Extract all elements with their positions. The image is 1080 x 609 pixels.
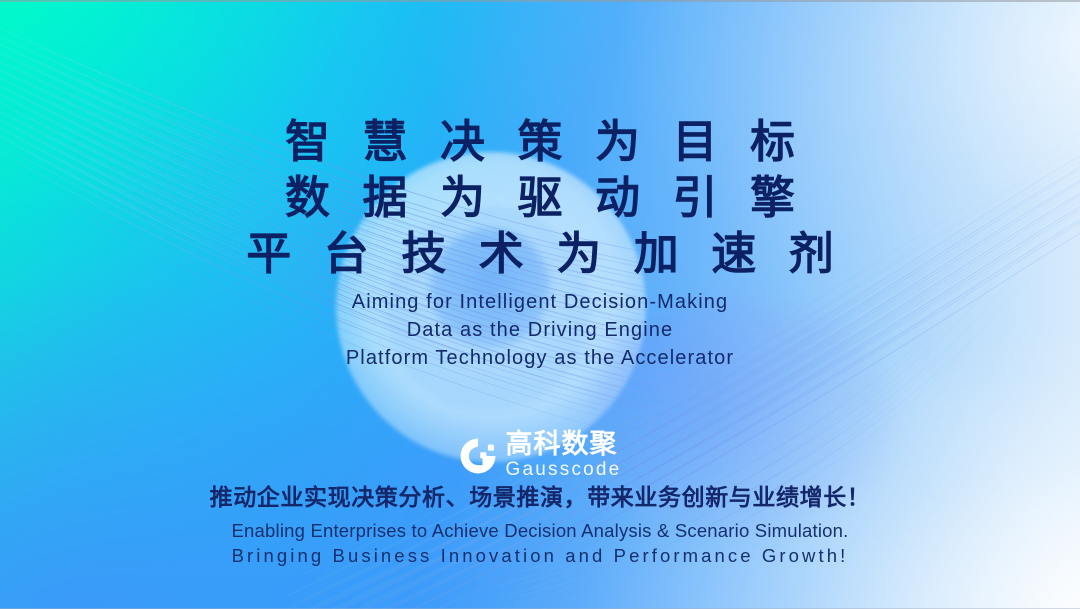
- gausscode-g-mark-icon: [459, 437, 497, 475]
- footer-tagline-cn: 推动企业实现决策分析、场景推演，带来业务创新与业绩增长！: [0, 482, 1080, 512]
- subheadline-line-2: Data as the Driving Engine: [0, 316, 1080, 344]
- poster-content: 智 慧 决 策 为 目 标 数 据 为 驱 动 引 擎 平 台 技 术 为 加 …: [0, 0, 1080, 609]
- headline-block: 智 慧 决 策 为 目 标 数 据 为 驱 动 引 擎 平 台 技 术 为 加 …: [0, 114, 1080, 282]
- footer-tagline-en-1: Enabling Enterprises to Achieve Decision…: [0, 518, 1080, 543]
- poster-canvas: 智 慧 决 策 为 目 标 数 据 为 驱 动 引 擎 平 台 技 术 为 加 …: [0, 0, 1080, 609]
- brand-logo: 高科数聚 Gausscode: [0, 430, 1080, 481]
- subheadline-line-3: Platform Technology as the Accelerator: [0, 344, 1080, 372]
- logo-name-en: Gausscode: [506, 459, 622, 481]
- footer-tagline-en-2: Bringing Business Innovation and Perform…: [0, 543, 1080, 568]
- canvas-top-edge: [0, 0, 1080, 2]
- headline-line-1: 智 慧 决 策 为 目 标: [0, 114, 1080, 170]
- footer-block: 推动企业实现决策分析、场景推演，带来业务创新与业绩增长！ Enabling En…: [0, 482, 1080, 568]
- headline-line-3: 平 台 技 术 为 加 速 剂: [0, 226, 1080, 282]
- logo-name-cn: 高科数聚: [506, 430, 618, 459]
- headline-line-2: 数 据 为 驱 动 引 擎: [0, 170, 1080, 226]
- subheadline-block: Aiming for Intelligent Decision-Making D…: [0, 288, 1080, 372]
- subheadline-line-1: Aiming for Intelligent Decision-Making: [0, 288, 1080, 316]
